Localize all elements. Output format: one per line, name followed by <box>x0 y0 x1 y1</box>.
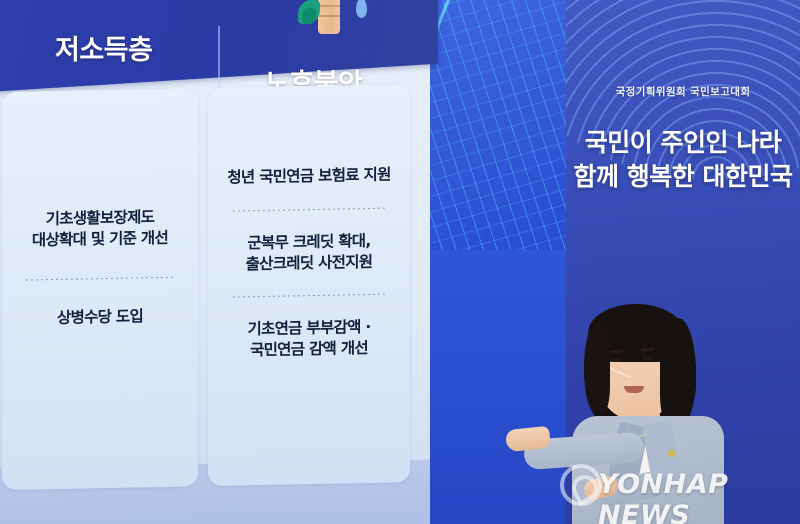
card-entry: 군복무 크레딧 확대,출산크레딧 사전지원 <box>216 230 402 275</box>
coin-stack-icon <box>318 0 340 34</box>
banner-eyebrow: 국정기획위원회 국민보고대회 <box>566 84 800 99</box>
presenter-lapel-pin <box>668 450 675 457</box>
entry-divider <box>233 207 386 211</box>
leaf-inner-icon <box>302 8 316 24</box>
water-drop-icon <box>356 0 367 18</box>
yonhap-logo-icon <box>560 464 602 506</box>
presenter-eye-left <box>612 358 622 362</box>
tab-divider <box>218 26 220 88</box>
tab-low-income[interactable]: 저소득층 <box>55 28 152 67</box>
card-entry: 청년 국민연금 보험료 지원 <box>216 164 402 188</box>
card-entry: 기초생활보장제도대상확대 및 기준 개선 <box>10 206 190 251</box>
watermark-text: YONHAP NEWS <box>598 469 800 524</box>
presenter-eye-right <box>642 356 652 360</box>
presenter-hair-right <box>660 318 696 428</box>
slide-illustration <box>288 0 368 36</box>
photo-stage: 국정기획위원회 국민보고대회 국민이 주인인 나라 함께 행복한 대한민국 저소… <box>0 0 800 524</box>
entry-divider <box>233 294 386 298</box>
card-entry: 기초연금 부부감액 ·국민연금 감액 개선 <box>216 317 402 362</box>
presenter-hair-left <box>584 322 610 414</box>
banner-title-line2: 함께 행복한 대한민국 <box>566 160 800 194</box>
banner-title: 국민이 주인인 나라 함께 행복한 대한민국 <box>566 126 800 194</box>
card-low-income: 기초생활보장제도대상확대 및 기준 개선 상병수당 도입 <box>2 88 198 490</box>
card-retirement: 청년 국민연금 보험료 지원 군복무 크레딧 확대,출산크레딧 사전지원 기초연… <box>208 84 410 486</box>
entry-divider <box>26 276 174 280</box>
watermark: YONHAP NEWS <box>566 466 800 506</box>
slide-card-group: 기초생활보장제도대상확대 및 기준 개선 상병수당 도입 청년 국민연금 보험료… <box>2 84 424 492</box>
banner-title-line1: 국민이 주인인 나라 <box>585 128 781 157</box>
card-entry: 상병수당 도입 <box>10 305 190 329</box>
